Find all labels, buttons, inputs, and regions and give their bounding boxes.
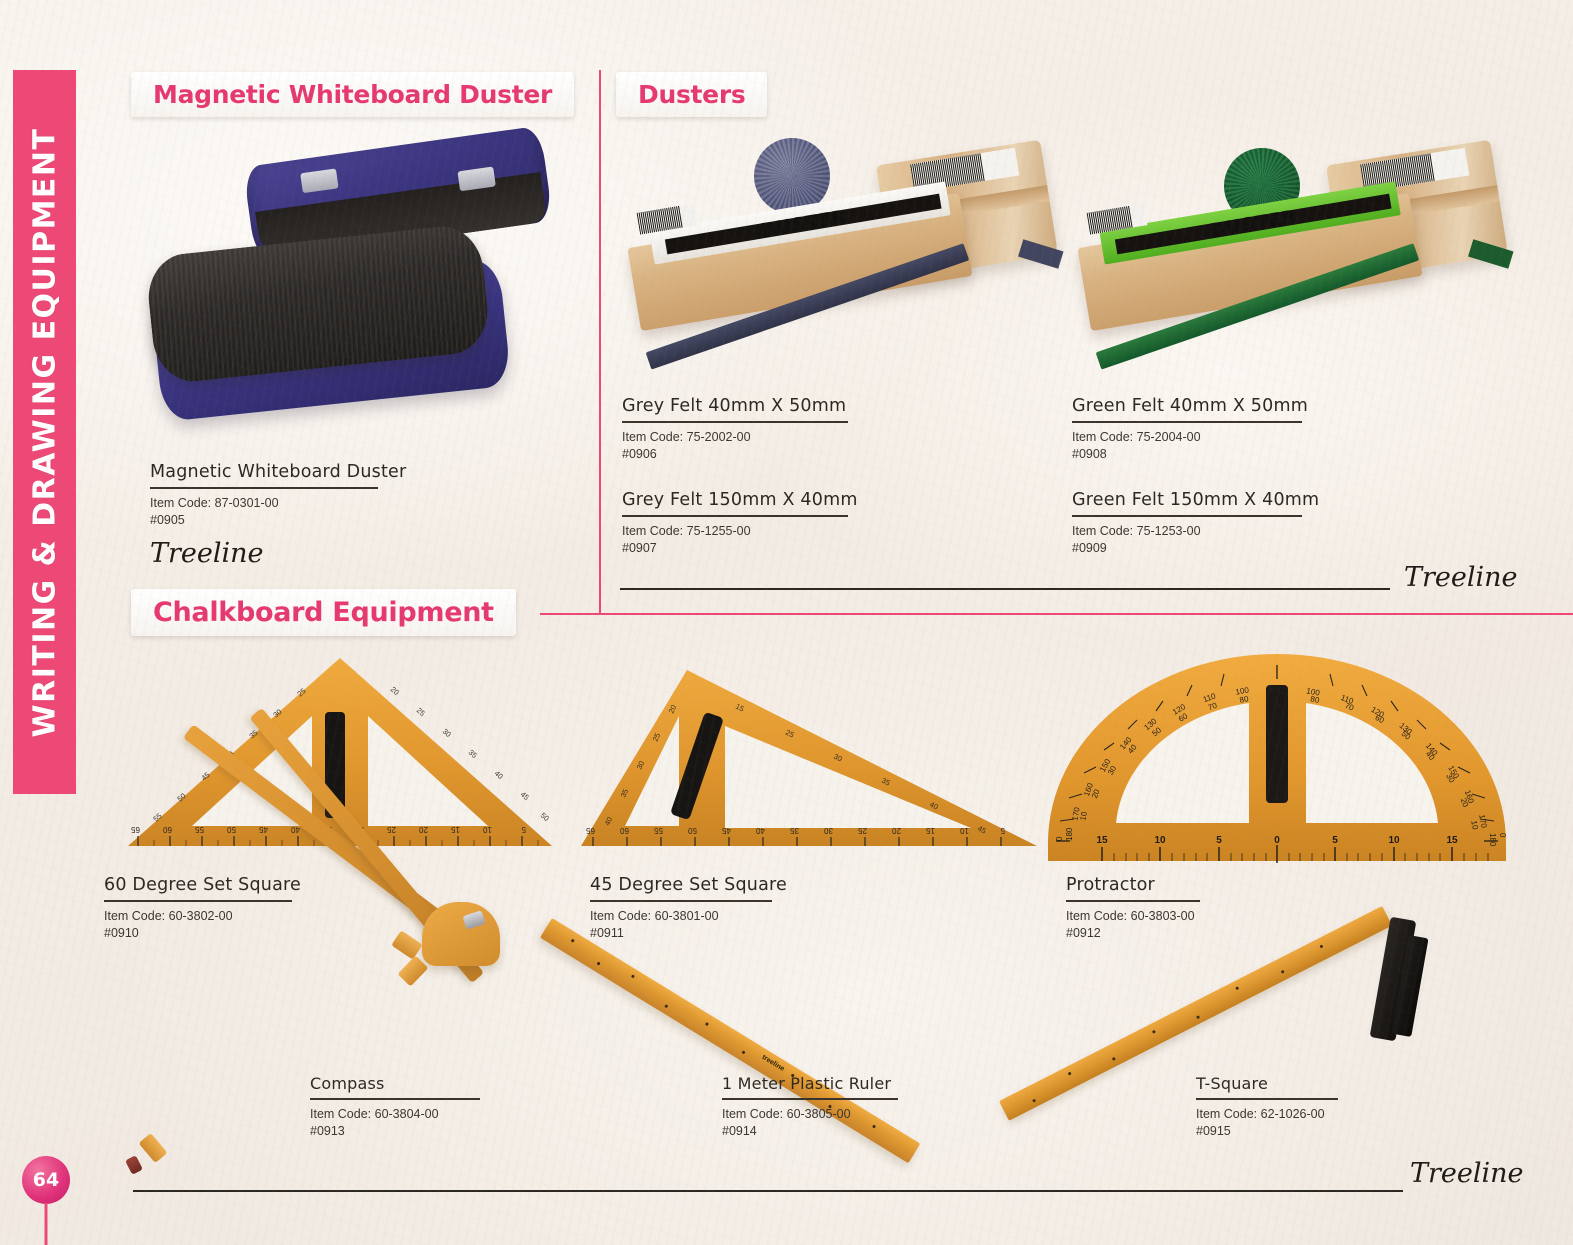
- caption-rule: [1072, 515, 1302, 517]
- product-name: Grey Felt 150mm X 40mm: [622, 490, 848, 510]
- green-felt-pad: [1468, 239, 1513, 268]
- page-footer-rule: [133, 1190, 1403, 1192]
- svg-text:50: 50: [688, 826, 697, 835]
- spine-label: WRITING & DRAWING EQUIPMENT: [27, 127, 62, 737]
- caption-grey-felt-40x50: Grey Felt 40mm X 50mm Item Code: 75-2002…: [622, 396, 848, 463]
- product-item-code: Item Code: 87-0301-00: [150, 495, 378, 512]
- svg-text:65: 65: [131, 825, 140, 834]
- svg-text:25: 25: [858, 826, 867, 835]
- section-tab-label: Magnetic Whiteboard Duster: [153, 80, 552, 109]
- page-number: 64: [33, 1169, 59, 1191]
- svg-text:55: 55: [195, 825, 204, 834]
- product-name: 60 Degree Set Square: [104, 875, 292, 895]
- compass-head: [422, 902, 500, 966]
- product-item-code: Item Code: 75-2004-00: [1072, 429, 1302, 446]
- product-name: Green Felt 150mm X 40mm: [1072, 490, 1302, 510]
- svg-text:30: 30: [824, 826, 833, 835]
- svg-text:15: 15: [1096, 835, 1108, 846]
- svg-text:45: 45: [259, 825, 268, 834]
- vertical-divider: [599, 70, 601, 615]
- svg-text:50: 50: [227, 825, 236, 834]
- svg-text:60: 60: [620, 826, 629, 835]
- section-tab-label: Chalkboard Equipment: [153, 597, 494, 628]
- catalogue-page: WRITING & DRAWING EQUIPMENT 64 Magnetic …: [0, 0, 1573, 1245]
- brand-logo-dusters: Treeline: [1404, 562, 1518, 593]
- svg-text:180: 180: [1488, 833, 1497, 847]
- product-item-code: Item Code: 62-1026-00: [1196, 1106, 1338, 1123]
- svg-text:10: 10: [1388, 835, 1400, 846]
- caption-grey-felt-150x40: Grey Felt 150mm X 40mm Item Code: 75-125…: [622, 490, 848, 557]
- product-name: Green Felt 40mm X 50mm: [1072, 396, 1302, 416]
- grey-felt-pad-main: [646, 243, 970, 369]
- caption-green-felt-150x40: Green Felt 150mm X 40mm Item Code: 75-12…: [1072, 490, 1302, 557]
- section-spine: WRITING & DRAWING EQUIPMENT: [13, 70, 76, 794]
- svg-text:50: 50: [539, 811, 551, 823]
- set-square-60-photo: 65 60 55 50 45 40 35 30 25 20 15 10 5 55…: [120, 650, 560, 865]
- svg-text:65: 65: [586, 826, 595, 835]
- protractor-photo: 0 180 170 10 160 20 150 30 140 40 130 50…: [1044, 651, 1510, 869]
- svg-text:60: 60: [163, 825, 172, 834]
- section-tab-label: Dusters: [638, 80, 745, 109]
- svg-text:0: 0: [1498, 833, 1507, 838]
- svg-text:10: 10: [483, 825, 492, 834]
- caption-rule: [1196, 1098, 1338, 1100]
- product-item-code: Item Code: 75-1255-00: [622, 523, 848, 540]
- compass-photo: [104, 900, 504, 1185]
- svg-text:0: 0: [1055, 836, 1064, 841]
- product-ref: #0913: [310, 1123, 480, 1140]
- brand-logo-magnetic: Treeline: [150, 538, 264, 569]
- caption-rule: [622, 515, 848, 517]
- product-ref: #0915: [1196, 1123, 1338, 1140]
- svg-text:180: 180: [1065, 827, 1074, 841]
- brand-name: Treeline: [150, 538, 264, 569]
- dusters-footer-rule: [620, 588, 1390, 590]
- green-felt-duster-photo: GREEN FELT DUSTER: [1072, 140, 1472, 390]
- ruler-brand-mark: treeline: [761, 1054, 786, 1073]
- product-name: Grey Felt 40mm X 50mm: [622, 396, 848, 416]
- svg-text:5: 5: [1000, 826, 1005, 835]
- section-tab-chalkboard-equipment: Chalkboard Equipment: [131, 589, 516, 636]
- svg-text:90: 90: [1270, 684, 1279, 693]
- compass-adjust-screw: [462, 910, 485, 929]
- magnetic-whiteboard-duster-photo: [140, 128, 560, 448]
- svg-text:20: 20: [892, 826, 901, 835]
- svg-text:25: 25: [415, 706, 427, 718]
- green-felt-pad-main: [1096, 243, 1420, 369]
- svg-text:5: 5: [521, 825, 526, 834]
- svg-text:20: 20: [389, 685, 401, 697]
- section-tab-dusters: Dusters: [616, 72, 767, 117]
- svg-text:35: 35: [467, 748, 479, 760]
- svg-text:35: 35: [790, 826, 799, 835]
- grey-felt-pad: [1018, 239, 1063, 268]
- brand-name: Treeline: [1410, 1158, 1524, 1189]
- set-square-45-photo: 65 60 55 50 45 40 35 30 25 20 15 10 5 40…: [575, 660, 1045, 865]
- product-ref: #0906: [622, 446, 848, 463]
- caption-t-square: T-Square Item Code: 62-1026-00 #0915: [1196, 1074, 1338, 1140]
- caption-rule: [150, 487, 378, 489]
- product-item-code: Item Code: 60-3804-00: [310, 1106, 480, 1123]
- svg-text:5: 5: [1216, 835, 1222, 846]
- svg-text:25: 25: [387, 825, 396, 834]
- svg-text:0: 0: [1274, 835, 1280, 846]
- caption-rule: [1072, 421, 1302, 423]
- svg-text:20: 20: [419, 825, 428, 834]
- svg-text:45: 45: [519, 790, 531, 802]
- page-number-balloon: 64: [22, 1156, 70, 1204]
- caption-compass: Compass Item Code: 60-3804-00 #0913: [310, 1074, 480, 1140]
- protractor-svg: 0 180 170 10 160 20 150 30 140 40 130 50…: [1044, 651, 1510, 869]
- svg-text:15: 15: [926, 826, 935, 835]
- caption-magnetic-whiteboard-duster: Magnetic Whiteboard Duster Item Code: 87…: [150, 462, 378, 529]
- product-ref: #0909: [1072, 540, 1302, 557]
- svg-text:45: 45: [722, 826, 731, 835]
- svg-text:55: 55: [654, 826, 663, 835]
- svg-text:5: 5: [1332, 835, 1338, 846]
- compass-hinge-collar-left: [391, 930, 423, 959]
- product-name: Compass: [310, 1074, 480, 1093]
- compass-chalk-holder: [139, 1133, 168, 1163]
- product-ref: #0905: [150, 512, 378, 529]
- svg-text:10: 10: [960, 826, 969, 835]
- caption-rule: [622, 421, 848, 423]
- brand-name: Treeline: [1404, 562, 1518, 593]
- compass-chalk-tip: [125, 1155, 143, 1175]
- svg-text:15: 15: [451, 825, 460, 834]
- grey-felt-duster-photo: DUSTER: [622, 140, 1022, 390]
- section-tab-magnetic-whiteboard-duster: Magnetic Whiteboard Duster: [131, 72, 574, 117]
- product-ref: #0907: [622, 540, 848, 557]
- svg-text:40: 40: [493, 769, 505, 781]
- svg-text:15: 15: [1446, 835, 1458, 846]
- svg-text:10: 10: [1154, 835, 1166, 846]
- svg-text:40: 40: [756, 826, 765, 835]
- product-name: Protractor: [1066, 875, 1200, 895]
- caption-rule: [722, 1098, 898, 1100]
- set-square-45-svg: 65 60 55 50 45 40 35 30 25 20 15 10 5 40…: [575, 660, 1045, 865]
- product-item-code: Item Code: 75-1253-00: [1072, 523, 1302, 540]
- set-square-60-svg: 65 60 55 50 45 40 35 30 25 20 15 10 5 55…: [120, 650, 560, 865]
- magnet-strip-left: [300, 168, 338, 193]
- product-name: 1 Meter Plastic Ruler: [722, 1074, 898, 1093]
- product-name: 45 Degree Set Square: [590, 875, 772, 895]
- product-ref: #0914: [722, 1123, 898, 1140]
- caption-meter-ruler: 1 Meter Plastic Ruler Item Code: 60-3805…: [722, 1074, 898, 1140]
- horizontal-divider: [540, 613, 1573, 615]
- product-name: Magnetic Whiteboard Duster: [150, 462, 378, 482]
- brand-logo-footer: Treeline: [1410, 1158, 1524, 1189]
- caption-green-felt-40x50: Green Felt 40mm X 50mm Item Code: 75-200…: [1072, 396, 1302, 463]
- product-ref: #0908: [1072, 446, 1302, 463]
- product-item-code: Item Code: 75-2002-00: [622, 429, 848, 446]
- product-name: T-Square: [1196, 1074, 1338, 1093]
- product-item-code: Item Code: 60-3805-00: [722, 1106, 898, 1123]
- svg-text:40: 40: [291, 825, 300, 834]
- svg-text:30: 30: [441, 727, 453, 739]
- caption-rule: [310, 1098, 480, 1100]
